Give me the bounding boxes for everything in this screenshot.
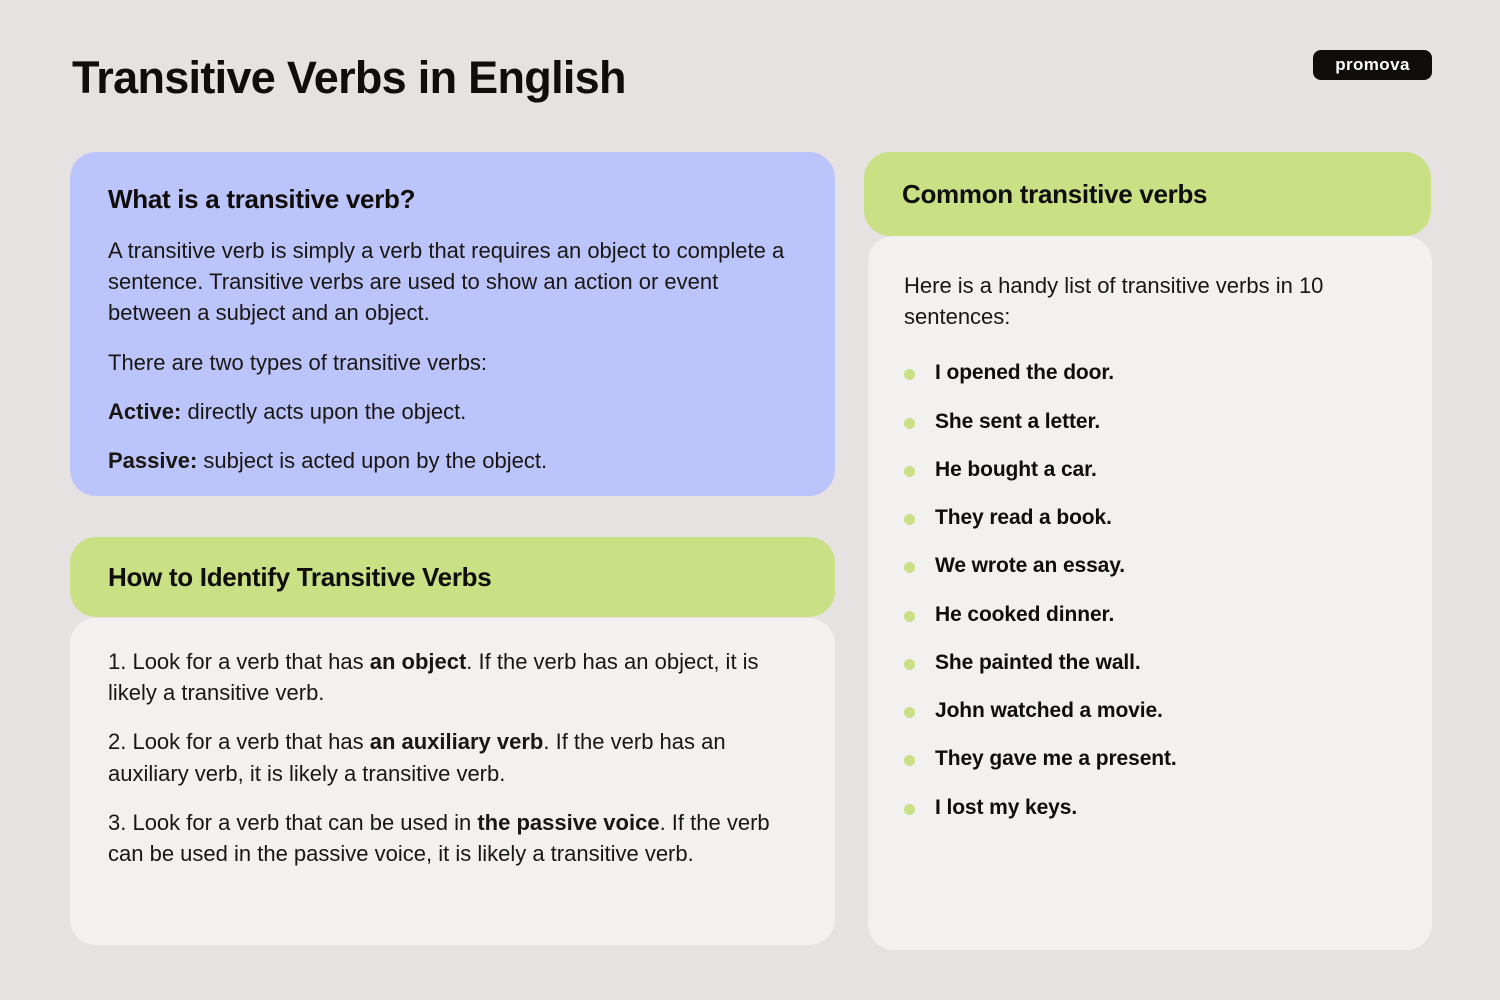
identify-card-header: How to Identify Transitive Verbs	[70, 537, 835, 617]
page-title: Transitive Verbs in English	[72, 52, 626, 104]
list-item: John watched a movie.	[904, 698, 1398, 724]
passive-label: Passive:	[108, 448, 197, 473]
verb-sentence: We wrote an essay.	[935, 553, 1125, 579]
verb-sentence-list: I opened the door.She sent a letter.He b…	[904, 360, 1398, 821]
bullet-icon	[904, 659, 915, 670]
common-verbs-heading: Common transitive verbs	[902, 179, 1207, 210]
verb-sentence: They gave me a present.	[935, 746, 1177, 772]
verb-sentence: She sent a letter.	[935, 409, 1100, 435]
list-item: She painted the wall.	[904, 650, 1398, 676]
active-label: Active:	[108, 399, 181, 424]
step-3-emphasis: the passive voice	[477, 810, 659, 835]
bullet-icon	[904, 514, 915, 525]
definition-paragraph-2: There are two types of transitive verbs:	[108, 347, 801, 378]
bullet-icon	[904, 611, 915, 622]
list-item: I lost my keys.	[904, 795, 1398, 821]
definition-card: What is a transitive verb? A transitive …	[70, 152, 835, 496]
list-item: They gave me a present.	[904, 746, 1398, 772]
identify-heading: How to Identify Transitive Verbs	[108, 562, 491, 593]
passive-definition: Passive: subject is acted upon by the ob…	[108, 445, 801, 476]
list-item: I opened the door.	[904, 360, 1398, 386]
definition-paragraph-1: A transitive verb is simply a verb that …	[108, 235, 801, 329]
verb-sentence: I lost my keys.	[935, 795, 1077, 821]
list-item: We wrote an essay.	[904, 553, 1398, 579]
identify-step-3: 3. Look for a verb that can be used in t…	[108, 807, 799, 869]
passive-text: subject is acted upon by the object.	[197, 448, 547, 473]
step-1-lead: 1. Look for a verb that has	[108, 649, 370, 674]
bullet-icon	[904, 755, 915, 766]
active-definition: Active: directly acts upon the object.	[108, 396, 801, 427]
bullet-icon	[904, 466, 915, 477]
verb-sentence: She painted the wall.	[935, 650, 1141, 676]
identify-card-body: 1. Look for a verb that has an object. I…	[70, 618, 835, 945]
bullet-icon	[904, 369, 915, 380]
common-verbs-header: Common transitive verbs	[864, 152, 1431, 236]
step-1-emphasis: an object	[370, 649, 467, 674]
bullet-icon	[904, 562, 915, 573]
verb-sentence: John watched a movie.	[935, 698, 1163, 724]
active-text: directly acts upon the object.	[181, 399, 466, 424]
bullet-icon	[904, 804, 915, 815]
verb-sentence: I opened the door.	[935, 360, 1114, 386]
bullet-icon	[904, 418, 915, 429]
step-2-lead: 2. Look for a verb that has	[108, 729, 370, 754]
identify-step-1: 1. Look for a verb that has an object. I…	[108, 646, 799, 708]
identify-step-2: 2. Look for a verb that has an auxiliary…	[108, 726, 799, 788]
common-verbs-body: Here is a handy list of transitive verbs…	[868, 236, 1432, 950]
promova-logo: promova	[1313, 50, 1432, 80]
definition-heading: What is a transitive verb?	[108, 184, 801, 215]
list-item: He cooked dinner.	[904, 602, 1398, 628]
verb-sentence: They read a book.	[935, 505, 1112, 531]
list-item: They read a book.	[904, 505, 1398, 531]
step-3-lead: 3. Look for a verb that can be used in	[108, 810, 477, 835]
step-2-emphasis: an auxiliary verb	[370, 729, 544, 754]
logo-text: promova	[1335, 55, 1410, 75]
bullet-icon	[904, 707, 915, 718]
list-item: He bought a car.	[904, 457, 1398, 483]
list-item: She sent a letter.	[904, 409, 1398, 435]
verb-sentence: He cooked dinner.	[935, 602, 1114, 628]
common-verbs-intro: Here is a handy list of transitive verbs…	[904, 270, 1398, 332]
verb-sentence: He bought a car.	[935, 457, 1097, 483]
